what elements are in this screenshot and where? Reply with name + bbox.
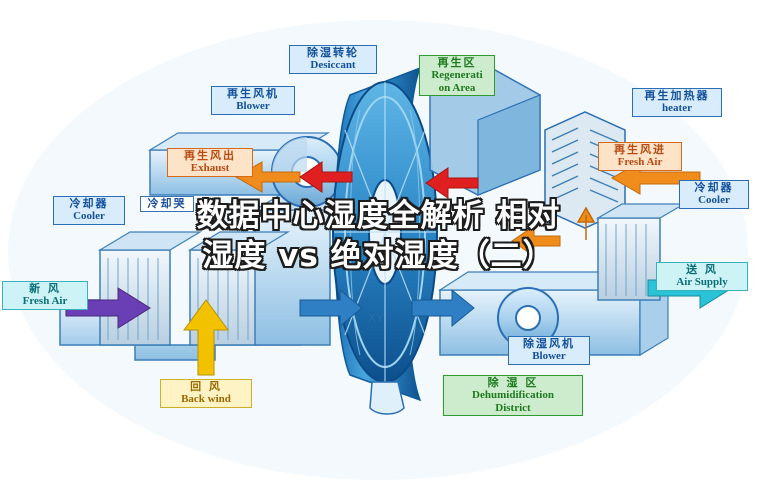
label-fresh-air-cn: 新 风 bbox=[6, 283, 84, 295]
label-cooling-water: 冷却哭 bbox=[140, 196, 194, 212]
label-back-wind: 回 风Back wind bbox=[160, 379, 252, 408]
label-fresh-air: 新 风Fresh Air bbox=[2, 281, 88, 310]
label-back-wind-en: Back wind bbox=[164, 393, 248, 405]
label-regeneration-inlet-en: Fresh Air bbox=[602, 156, 678, 168]
label-cooler-left-en: Cooler bbox=[57, 210, 121, 222]
label-regeneration-inlet-cn: 再生风进 bbox=[602, 144, 678, 156]
label-regeneration-blower-cn: 再生风机 bbox=[215, 88, 291, 100]
label-air-supply: 送 风Air Supply bbox=[656, 262, 748, 291]
svg-text:XY: XY bbox=[368, 311, 384, 325]
label-dehumidification-district: 除 湿 区DehumidificationDistrict bbox=[443, 375, 583, 416]
label-dehumidification-district-en: Dehumidification bbox=[447, 389, 579, 401]
label-dehumidify-blower-en: Blower bbox=[512, 350, 586, 362]
label-dehumidification-district-en: District bbox=[447, 402, 579, 414]
label-cooling-water-cn: 冷却哭 bbox=[144, 198, 190, 210]
label-regeneration-exhaust-cn: 再生风出 bbox=[171, 150, 249, 162]
label-regeneration-exhaust-en: Exhaust bbox=[171, 162, 249, 174]
label-cooler-left: 冷却器Cooler bbox=[53, 196, 125, 225]
label-desiccant-rotor-en: Desiccant bbox=[293, 59, 373, 71]
label-cooler-left-cn: 冷却器 bbox=[57, 198, 121, 210]
label-cooler-right-cn: 冷却器 bbox=[683, 182, 745, 194]
label-air-supply-cn: 送 风 bbox=[660, 264, 744, 276]
label-regeneration-area-en: Regenerati bbox=[423, 69, 491, 81]
label-regeneration-area-en: on Area bbox=[423, 82, 491, 94]
label-dehumidification-district-cn: 除 湿 区 bbox=[447, 377, 579, 389]
label-cooler-right: 冷却器Cooler bbox=[679, 180, 749, 209]
label-fresh-air-en: Fresh Air bbox=[6, 295, 84, 307]
dehumidifier-schematic: XY bbox=[0, 0, 757, 488]
label-regeneration-heater: 再生加热器heater bbox=[632, 88, 722, 117]
label-cooler-right-en: Cooler bbox=[683, 194, 745, 206]
label-regeneration-heater-cn: 再生加热器 bbox=[636, 90, 718, 102]
label-dehumidify-blower-cn: 除湿风机 bbox=[512, 338, 586, 350]
label-regeneration-area-cn: 再生区 bbox=[423, 57, 491, 69]
label-regeneration-heater-en: heater bbox=[636, 102, 718, 114]
label-regeneration-blower: 再生风机Blower bbox=[211, 86, 295, 115]
label-regeneration-area: 再生区Regeneration Area bbox=[419, 55, 495, 96]
label-desiccant-rotor-cn: 除湿转轮 bbox=[293, 47, 373, 59]
diagram-stage: XY 除湿转轮Desiccant再生区Regeneration Area再生风机… bbox=[0, 0, 757, 488]
label-air-supply-en: Air Supply bbox=[660, 276, 744, 288]
label-regeneration-inlet: 再生风进Fresh Air bbox=[598, 142, 682, 171]
label-desiccant-rotor: 除湿转轮Desiccant bbox=[289, 45, 377, 74]
label-regeneration-blower-en: Blower bbox=[215, 100, 291, 112]
label-back-wind-cn: 回 风 bbox=[164, 381, 248, 393]
label-regeneration-exhaust: 再生风出Exhaust bbox=[167, 148, 253, 177]
label-dehumidify-blower: 除湿风机Blower bbox=[508, 336, 590, 365]
